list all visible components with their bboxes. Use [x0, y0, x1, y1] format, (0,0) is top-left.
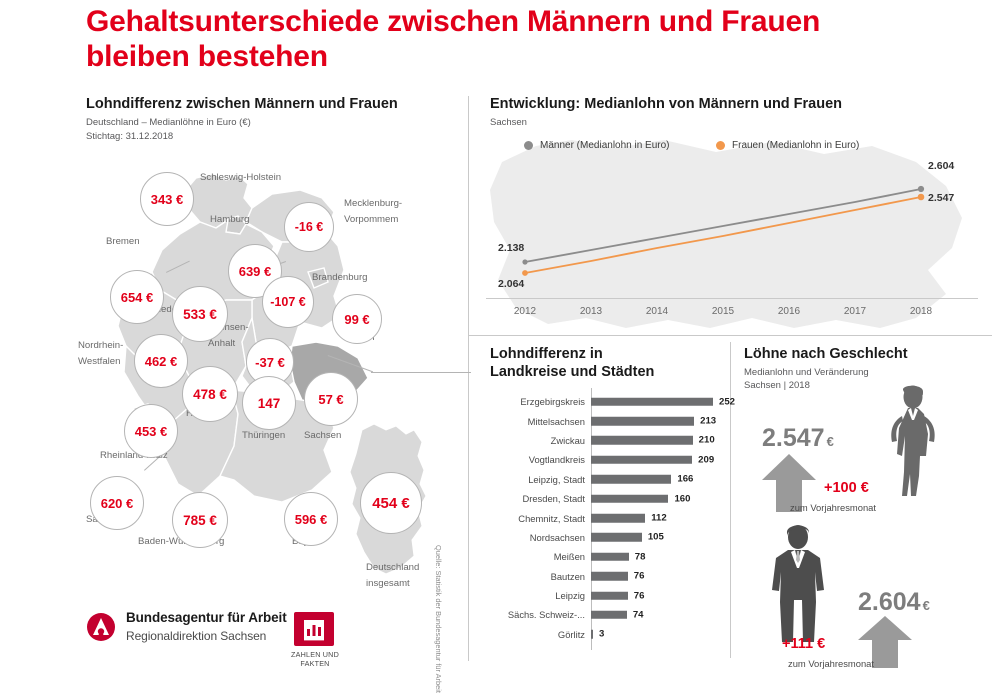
bar-row-label: Leipzig: [476, 590, 591, 601]
line-x-tick-4: 2016: [766, 306, 812, 317]
map-label-brandenburg: Brandenburg: [312, 272, 367, 284]
bar-row-value: 3: [599, 629, 604, 640]
bar-row-value: 213: [700, 416, 716, 427]
bar-row-value: 74: [633, 609, 644, 620]
bar-row-value: 76: [634, 571, 645, 582]
bar-row[interactable]: Leipzig, Stadt166: [476, 470, 722, 489]
men-delta-value: +111 €: [782, 636, 825, 652]
map-bubble-hessen[interactable]: 478 €: [182, 366, 238, 422]
germany-map-panel: Lohndifferenz zwischen Männern und Fraue…: [0, 90, 468, 667]
bar-row[interactable]: Mittelsachsen213: [476, 411, 722, 430]
map-bubble-berlin[interactable]: 99 €: [332, 294, 382, 344]
line-label-women-2018: 2.547: [928, 192, 954, 204]
bar-row-bar: [591, 572, 628, 581]
bar-row-track: 76: [591, 567, 722, 586]
bar-row-value: 112: [651, 513, 666, 524]
infographic-root: Gehaltsunterschiede zwischen Männern und…: [0, 0, 1000, 667]
logo-title: Bundesagentur für Arbeit: [126, 610, 287, 625]
line-chart-subtitle: Sachsen: [490, 116, 960, 129]
map-bubble-niedersachsen[interactable]: 533 €: [172, 286, 228, 342]
map-label-sachsen: Sachsen: [304, 430, 341, 442]
woman-silhouette-icon: [878, 384, 948, 504]
bar-row-label: Chemnitz, Stadt: [476, 513, 591, 524]
bundesagentur-logo-icon: [86, 612, 116, 642]
bar-row-bar: [591, 494, 668, 503]
map-bubble-thueringen[interactable]: 147: [242, 376, 296, 430]
bar-row-bar: [591, 436, 693, 445]
bar-row[interactable]: Erzgebirgskreis252: [476, 392, 722, 411]
bar-row[interactable]: Zwickau210: [476, 431, 722, 450]
bar-chart-title-line1: Lohndifferenz in: [490, 346, 720, 364]
bar-row-track: 105: [591, 528, 722, 547]
gender-wage-panel: Löhne nach Geschlecht Medianlohn und Ver…: [730, 336, 1000, 667]
bar-row-label: Bautzen: [476, 571, 591, 582]
bar-row-bar: [591, 397, 713, 406]
bar-row-bar: [591, 611, 627, 620]
line-chart-title: Entwicklung: Medianlohn von Männern und …: [490, 96, 960, 114]
men-delta-caption: zum Vorjahresmonat: [788, 658, 874, 669]
line-label-women-2012: 2.064: [498, 278, 524, 290]
bar-row-bar: [591, 630, 593, 639]
bar-row-value: 78: [635, 551, 646, 562]
map-panel-title: Lohndifferenz zwischen Männern und Fraue…: [86, 96, 446, 114]
bar-row-bar: [591, 591, 628, 600]
bar-row-bar: [591, 417, 694, 426]
badge-line-1: ZAHLEN UND: [276, 650, 354, 659]
map-bubble-rheinland-pfalz[interactable]: 453 €: [124, 404, 178, 458]
gender-panel-subtitle-2: Sachsen | 2018: [744, 379, 994, 392]
line-x-tick-6: 2018: [898, 306, 944, 317]
map-label-bremen: Bremen: [106, 236, 140, 248]
bar-row-track: 78: [591, 547, 722, 566]
zahlen-und-fakten-badge-icon: [294, 612, 334, 646]
map-bubble-nordrhein-westfalen[interactable]: 462 €: [134, 334, 188, 388]
line-x-tick-2: 2014: [634, 306, 680, 317]
line-x-tick-0: 2012: [502, 306, 548, 317]
badge-line-2: FAKTEN: [276, 659, 354, 668]
map-label-mecklenburg-line1: Mecklenburg-: [344, 198, 402, 210]
bar-row-track: 213: [591, 411, 722, 430]
bar-row-value: 160: [674, 493, 690, 504]
bar-row-label: Nordsachsen: [476, 532, 591, 543]
bar-row-track: 112: [591, 508, 722, 527]
map-bubble-mecklenburg-vorpommern[interactable]: -16 €: [284, 202, 334, 252]
map-bubble-brandenburg[interactable]: -107 €: [262, 276, 314, 328]
map-label-thueringen: Thüringen: [242, 430, 285, 442]
bar-row-bar: [591, 533, 642, 542]
bar-row-label: Mittelsachsen: [476, 416, 591, 427]
gender-panel-subtitle-1: Medianlohn und Veränderung: [744, 366, 994, 379]
page-title: Gehaltsunterschiede zwischen Männern und…: [86, 4, 886, 74]
bar-row-label: Vogtlandkreis: [476, 454, 591, 465]
line-x-tick-5: 2017: [832, 306, 878, 317]
bar-row-label: Görlitz: [476, 629, 591, 640]
bar-row-label: Meißen: [476, 551, 591, 562]
gender-panel-header: Löhne nach Geschlecht Medianlohn und Ver…: [744, 346, 994, 392]
bar-chart-header: Lohndifferenz in Landkreise und Städten: [490, 346, 720, 382]
line-chart-header: Entwicklung: Medianlohn von Männern und …: [490, 96, 960, 129]
line-x-tick-3: 2015: [700, 306, 746, 317]
line-label-men-2018: 2.604: [928, 160, 954, 172]
bar-row-bar: [591, 456, 692, 465]
bar-row-track: 3: [591, 625, 722, 644]
map-panel-subtitle-1: Deutschland – Medianlöhne in Euro (€): [86, 116, 446, 129]
bar-chart-book-icon: [294, 612, 334, 646]
bar-row[interactable]: Bautzen76: [476, 567, 722, 586]
bar-row-track: 252: [591, 392, 722, 411]
bar-row-value: 209: [698, 454, 714, 465]
zahlen-und-fakten-caption: ZAHLEN UND FAKTEN: [276, 650, 354, 669]
bar-row-label: Erzgebirgskreis: [476, 396, 591, 407]
district-bar-chart-panel: Lohndifferenz in Landkreise und Städten …: [468, 336, 730, 667]
map-label-nordrhein-line2: Westfalen: [78, 356, 120, 368]
bar-row-bar: [591, 475, 671, 484]
women-wage-value: 2.547€: [762, 424, 834, 453]
bar-row-label: Leipzig, Stadt: [476, 474, 591, 485]
women-delta-caption: zum Vorjahresmonat: [790, 502, 876, 513]
map-bubble-bayern[interactable]: 596 €: [284, 492, 338, 546]
bar-chart-title-line2: Landkreise und Städten: [490, 364, 720, 382]
bundesagentur-logo-text: Bundesagentur für Arbeit Regionaldirekti…: [126, 610, 287, 643]
bar-chart-rows: Erzgebirgskreis252Mittelsachsen213Zwicka…: [476, 392, 722, 644]
line-chart-plot: Männer (Medianlohn in Euro) Frauen (Medi…: [476, 132, 992, 332]
map-panel-subtitle-2: Stichtag: 31.12.2018: [86, 130, 446, 143]
bar-row[interactable]: Meißen78: [476, 547, 722, 566]
bar-row-label: Dresden, Stadt: [476, 493, 591, 504]
women-delta-value: +100 €: [824, 480, 869, 496]
bar-row-bar: [591, 553, 629, 562]
map-bubble-deutschland-gesamt[interactable]: 454 €: [360, 472, 422, 534]
bar-row[interactable]: Görlitz3: [476, 625, 722, 644]
women-wage-number: 2.547: [762, 424, 825, 452]
bar-row-track: 74: [591, 605, 722, 624]
bar-row[interactable]: Chemnitz, Stadt112: [476, 508, 722, 527]
bar-row[interactable]: Dresden, Stadt160: [476, 489, 722, 508]
footer-logos: Bundesagentur für Arbeit Regionaldirekti…: [86, 608, 466, 664]
bar-row-value: 166: [677, 474, 693, 485]
line-chart-x-axis: [486, 298, 978, 299]
map-panel-header: Lohndifferenz zwischen Männern und Fraue…: [86, 96, 446, 143]
bar-row[interactable]: Nordsachsen105: [476, 528, 722, 547]
bar-row-value: 210: [699, 435, 715, 446]
map-label-hamburg: Hamburg: [210, 214, 249, 226]
map-label-schleswig-holstein: Schleswig-Holstein: [200, 172, 281, 184]
logo-subtitle: Regionaldirektion Sachsen: [126, 629, 287, 643]
map-label-sachsen-anhalt-line2: Anhalt: [208, 338, 235, 350]
bar-row-track: 210: [591, 431, 722, 450]
germany-map-graphic: Schleswig-Holstein Mecklenburg- Vorpomme…: [76, 150, 456, 610]
women-wage-currency: €: [827, 434, 834, 449]
line-chart-series-svg: [476, 132, 992, 332]
map-bubble-baden-wuerttemberg[interactable]: 785 €: [172, 492, 228, 548]
men-wage-currency: €: [923, 598, 930, 613]
line-label-men-2012: 2.138: [498, 242, 524, 254]
gender-panel-title: Löhne nach Geschlecht: [744, 346, 994, 364]
map-bubble-saarland[interactable]: 620 €: [90, 476, 144, 530]
bar-row-track: 209: [591, 450, 722, 469]
map-label-mecklenburg-line2: Vorpommem: [344, 214, 398, 226]
bar-row-track: 166: [591, 470, 722, 489]
line-x-tick-1: 2013: [568, 306, 614, 317]
bar-row[interactable]: Leipzig76: [476, 586, 722, 605]
men-wage-value: 2.604€: [858, 588, 930, 617]
map-label-deutschland-line1: Deutschland: [366, 562, 419, 574]
bar-row-track: 160: [591, 489, 722, 508]
bar-row[interactable]: Vogtlandkreis209: [476, 450, 722, 469]
bar-row-value: 105: [648, 532, 664, 543]
bar-row-label: Sächs. Schweiz-...: [476, 609, 591, 620]
map-label-deutschland-line2: insgesamt: [366, 578, 410, 590]
bar-row[interactable]: Sächs. Schweiz-...74: [476, 605, 722, 624]
bar-row-bar: [591, 514, 645, 523]
bar-row-label: Zwickau: [476, 435, 591, 446]
bar-row-track: 76: [591, 586, 722, 605]
leader-line-sachsen: [371, 372, 471, 373]
map-bubble-sachsen[interactable]: 57 €: [304, 372, 358, 426]
men-wage-number: 2.604: [858, 588, 921, 616]
map-label-nordrhein-line1: Nordrhein-: [78, 340, 123, 352]
line-chart-panel: Entwicklung: Medianlohn von Männern und …: [468, 90, 1000, 335]
man-silhouette-icon: [762, 524, 834, 648]
map-bubble-schleswig-holstein[interactable]: 343 €: [140, 172, 194, 226]
map-bubble-bremen[interactable]: 654 €: [110, 270, 164, 324]
bar-row-value: 76: [634, 590, 645, 601]
